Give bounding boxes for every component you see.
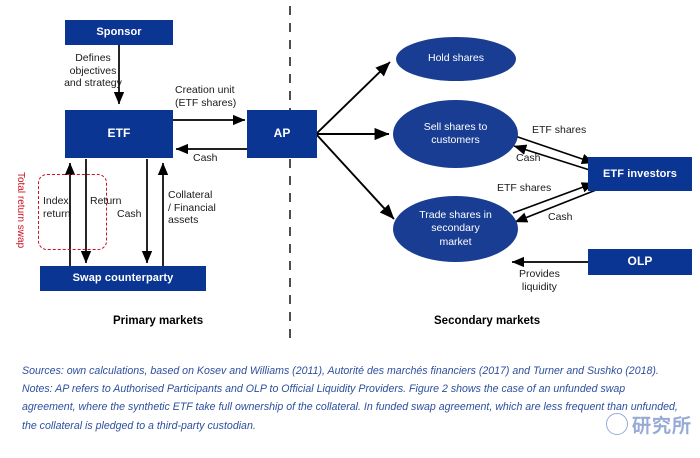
node-ap[interactable]: AP	[247, 110, 317, 158]
ellipse-sell-shares[interactable]: Sell shares to customers	[393, 100, 518, 168]
label-cash-sell: Cash	[516, 152, 541, 165]
node-etf-investors-label: ETF investors	[603, 168, 677, 181]
etf-structure-diagram: Total return swap Sponsor ETF AP Swap co…	[0, 0, 700, 350]
figure-footnotes: Sources: own calculations, based on Kose…	[0, 352, 700, 458]
node-swap-counterparty-label: Swap counterparty	[73, 272, 174, 285]
ellipse-trade-shares-label: Trade shares in secondary market	[416, 209, 496, 248]
label-provides-liquidity: Provides liquidity	[519, 268, 560, 293]
label-cash-swap: Cash	[117, 208, 142, 221]
label-creation-unit: Creation unit (ETF shares)	[175, 84, 236, 109]
node-olp-label: OLP	[628, 255, 653, 269]
ellipse-sell-shares-label: Sell shares to customers	[413, 121, 499, 147]
label-defines-objectives: Defines objectives and strategy	[63, 52, 123, 90]
node-etf-investors[interactable]: ETF investors	[588, 157, 692, 191]
label-cash-ap: Cash	[193, 152, 218, 165]
caption-primary-markets: Primary markets	[113, 315, 203, 327]
label-collateral-financial-assets: Collateral / Financial assets	[168, 189, 216, 227]
node-sponsor-label: Sponsor	[96, 26, 141, 39]
node-swap-counterparty[interactable]: Swap counterparty	[40, 266, 206, 291]
footnote-sources: Sources: own calculations, based on Kose…	[22, 362, 678, 380]
node-olp[interactable]: OLP	[588, 249, 692, 275]
ellipse-trade-shares[interactable]: Trade shares in secondary market	[393, 196, 518, 262]
node-sponsor[interactable]: Sponsor	[65, 20, 173, 45]
label-cash-trade: Cash	[548, 211, 573, 224]
caption-secondary-markets: Secondary markets	[434, 315, 540, 327]
label-return: Return	[90, 195, 122, 208]
label-index-return: Index return	[43, 195, 70, 220]
footnote-notes: Notes: AP refers to Authorised Participa…	[22, 380, 678, 435]
node-etf[interactable]: ETF	[65, 110, 173, 158]
node-etf-label: ETF	[108, 127, 131, 141]
node-ap-label: AP	[274, 127, 291, 141]
label-etf-shares-trade: ETF shares	[497, 182, 551, 195]
total-return-swap-label: Total return swap	[15, 172, 26, 248]
label-etf-shares-sell: ETF shares	[532, 124, 586, 137]
ellipse-hold-shares[interactable]: Hold shares	[396, 37, 516, 81]
ellipse-hold-shares-label: Hold shares	[428, 52, 484, 65]
